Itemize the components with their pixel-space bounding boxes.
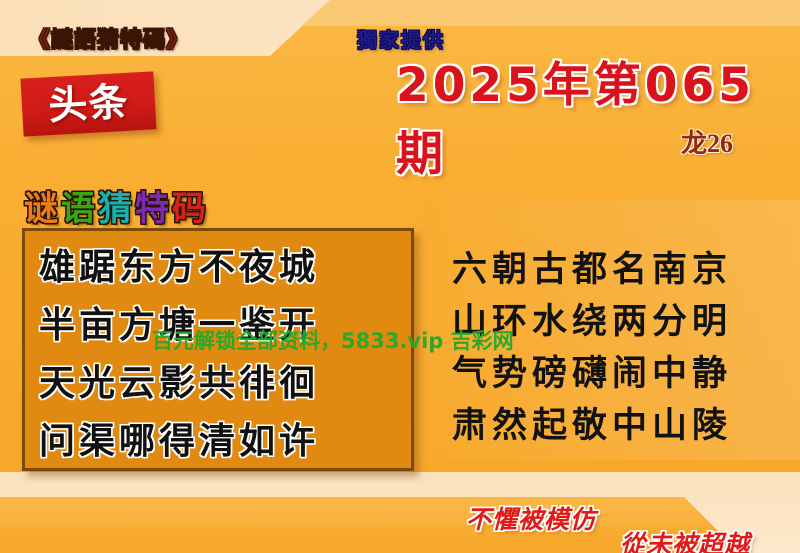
- riddle-line: 雄踞东方不夜城: [39, 239, 397, 297]
- section-heading-char-0: 谜: [24, 189, 61, 229]
- issue-label: 2025年第065期: [396, 46, 800, 184]
- brand-title-core: 謎語猜特碼: [51, 28, 166, 53]
- poem-line: 气势磅礴闹中静: [452, 348, 732, 400]
- section-heading-char-3: 特: [135, 189, 172, 229]
- brand-title-close-bracket: 》: [166, 28, 189, 53]
- headline-badge: 头条: [20, 71, 156, 136]
- poster-canvas: 《謎語猜特碼》 獨家提供 2025年第065期 龙26 头条 谜语猜特码 雄踞东…: [0, 0, 800, 553]
- riddle-line: 问渠哪得清如许: [39, 413, 397, 471]
- poem-line: 六朝古都名南京: [452, 244, 732, 296]
- footer-slogan-bottom: 從未被超越: [620, 525, 750, 553]
- watermark-text: 百元解锁全部资料，5833.vip 吉彩网: [152, 325, 514, 355]
- section-heading-char-1: 语: [61, 189, 98, 229]
- footer-slogan-top: 不懼被模仿: [466, 500, 596, 536]
- brand-title-open-bracket: 《: [28, 28, 51, 53]
- section-heading: 谜语猜特码: [24, 181, 209, 230]
- headline-badge-label: 头条: [47, 82, 129, 125]
- section-heading-char-2: 猜: [98, 189, 135, 229]
- section-heading-char-4: 码: [172, 189, 209, 229]
- poem-line: 肃然起敬中山陵: [452, 400, 732, 452]
- zodiac-label: 龙26: [681, 123, 733, 160]
- riddle-line: 天光云影共徘徊: [39, 355, 397, 413]
- brand-title: 《謎語猜特碼》: [28, 22, 189, 54]
